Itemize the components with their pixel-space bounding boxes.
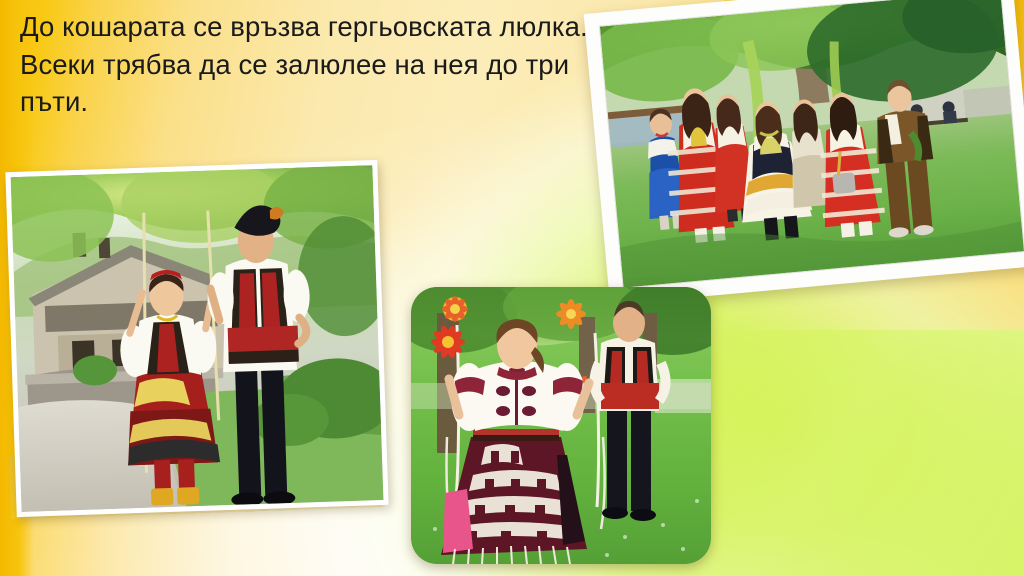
slide-canvas: До кошарата се връзва гергьовската люлка…: [0, 0, 1024, 576]
photo-girl-on-flower-swing[interactable]: [411, 287, 711, 564]
photo-girl-swing-image: [411, 287, 711, 564]
photo-procession-of-girls[interactable]: [584, 0, 1024, 305]
village-swing-artwork: [11, 165, 384, 512]
slide-caption-text: До кошарата се връзва гергьовската люлка…: [20, 8, 590, 121]
photo-couple-at-village-swing[interactable]: [5, 160, 388, 517]
procession-artwork: [600, 0, 1024, 288]
photo-couple-image: [11, 165, 384, 512]
flower-swing-artwork: [411, 287, 711, 564]
photo-procession-image: [599, 0, 1024, 289]
